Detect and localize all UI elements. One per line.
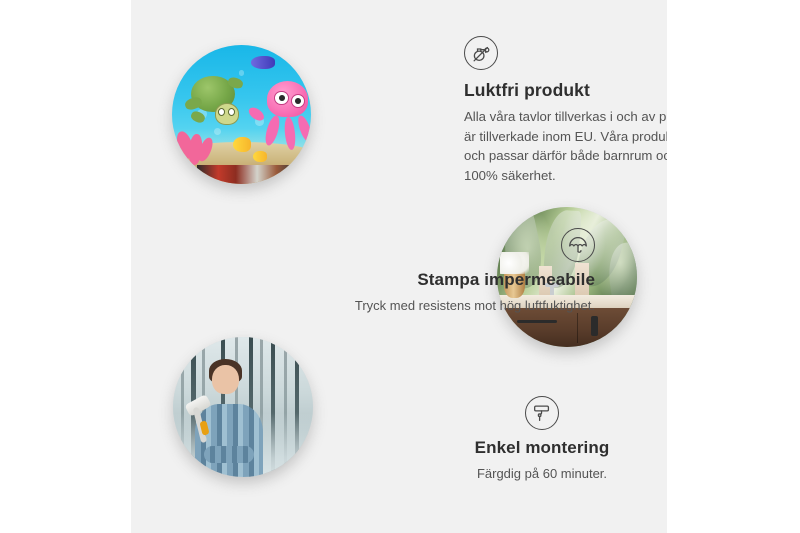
feature-title: Enkel montering: [437, 438, 647, 458]
underwater-artwork: [172, 45, 311, 184]
feature-description: Tryck med resistens mot hög luftfuktighe…: [327, 296, 595, 315]
underwater-scene-disc: [172, 45, 311, 184]
feature-description: Alla våra tavlor tillverkas i och av pro…: [464, 107, 667, 185]
installer-artwork: [173, 337, 313, 477]
installer-portrait-disc: [173, 337, 313, 477]
feature-panel: Luktfri produkt Alla våra tavlor tillver…: [131, 0, 667, 533]
feature-description: Färgdig på 60 minuter.: [437, 464, 647, 483]
feature-title: Stampa impermeabile: [327, 270, 595, 290]
umbrella-icon: [561, 228, 595, 262]
feature-easy-mounting: Enkel montering Färgdig på 60 minuter.: [437, 396, 647, 484]
no-spray-bottle-icon: [464, 36, 498, 70]
feature-odour-free: Luktfri produkt Alla våra tavlor tillver…: [464, 36, 667, 185]
feature-title: Luktfri produkt: [464, 80, 667, 101]
paint-roller-icon: [525, 396, 559, 430]
feature-waterproof-print: Stampa impermeabile Tryck med resistens …: [327, 228, 595, 316]
promo-graphic: Luktfri produkt Alla våra tavlor tillver…: [0, 0, 800, 533]
